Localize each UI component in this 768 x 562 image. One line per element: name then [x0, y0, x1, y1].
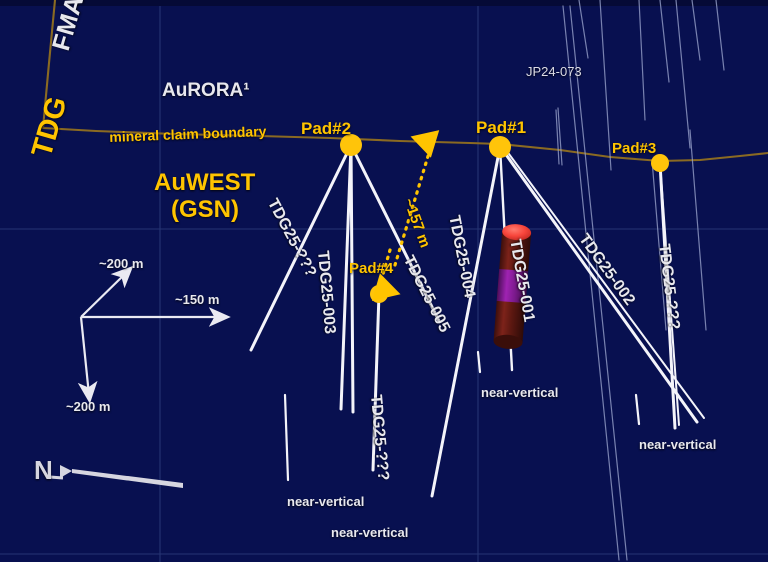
pad-label-pad1[interactable]: Pad#1: [476, 118, 526, 138]
scale-bar: [81, 272, 222, 395]
pad-label-pad3[interactable]: Pad#3: [612, 140, 656, 157]
near-vertical-label-1: near-vertical: [287, 494, 364, 509]
claim-label-auwest: AuWEST: [154, 169, 255, 197]
scale-label-down: ~200 m: [66, 399, 110, 414]
drill-plan-map: FMAR TDG AuRORA¹ AuWEST (GSN) mineral cl…: [0, 0, 768, 562]
claim-label-aurora: AuRORA¹: [162, 80, 250, 102]
scale-label-up: ~200 m: [99, 256, 143, 271]
near-vertical-label-3: near-vertical: [481, 385, 558, 400]
claim-label-auwest-gsn: (GSN): [171, 196, 239, 224]
near-vertical-label-2: near-vertical: [331, 525, 408, 540]
north-arrow: [50, 465, 183, 488]
scale-label-right: ~150 m: [175, 292, 219, 307]
pad-label-pad2[interactable]: Pad#2: [301, 119, 351, 139]
pad-label-pad4[interactable]: Pad#4: [349, 260, 393, 277]
north-label: N: [34, 455, 53, 486]
near-vertical-label-4: near-vertical: [639, 437, 716, 452]
hole-label-jp24-073[interactable]: JP24-073: [526, 64, 582, 79]
